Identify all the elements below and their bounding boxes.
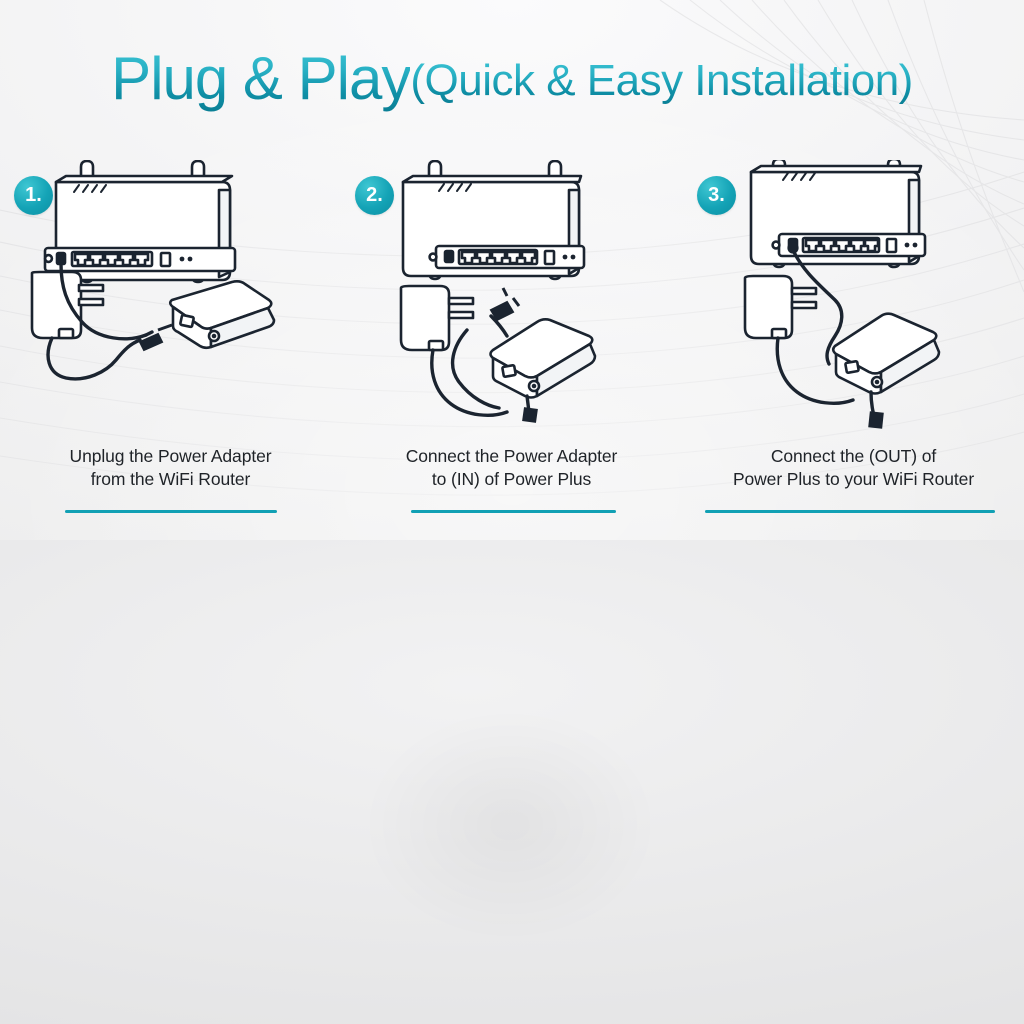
step-3-caption-line1: Connect the (OUT) of xyxy=(683,445,1024,468)
screenshot-root: Plug & Play(Quick & Easy Installation) 1… xyxy=(0,0,1024,1024)
installation-steps: 1. xyxy=(0,160,1024,540)
step-1-caption-line2: from the WiFi Router xyxy=(0,468,341,491)
step-3: 3. xyxy=(683,160,1024,540)
step-1-caption: Unplug the Power Adapter from the WiFi R… xyxy=(0,445,341,491)
step-2-illustration xyxy=(341,160,682,440)
photo-soft-shadow xyxy=(300,660,720,990)
step-1-illustration xyxy=(0,160,341,440)
title-sub-text: (Quick & Easy Installation) xyxy=(410,56,912,106)
installation-photo: PORTRONICS PORTRONICS xyxy=(0,540,1024,1024)
step-3-illustration xyxy=(683,160,1024,440)
step-2-caption-line2: to (IN) of Power Plus xyxy=(341,468,682,491)
step-3-caption: Connect the (OUT) of Power Plus to your … xyxy=(683,445,1024,491)
step-3-caption-line2: Power Plus to your WiFi Router xyxy=(683,468,1024,491)
step-1-caption-line1: Unplug the Power Adapter xyxy=(0,445,341,468)
step-2-caption-line1: Connect the Power Adapter xyxy=(341,445,682,468)
step-1-underline xyxy=(65,510,277,513)
page-title: Plug & Play(Quick & Easy Installation) xyxy=(0,44,1024,113)
step-1: 1. xyxy=(0,160,341,540)
step-2: 2. xyxy=(341,160,682,540)
step-2-underline xyxy=(411,510,616,513)
step-2-caption: Connect the Power Adapter to (IN) of Pow… xyxy=(341,445,682,491)
title-main-text: Plug & Play xyxy=(111,44,410,113)
step-3-underline xyxy=(705,510,995,513)
